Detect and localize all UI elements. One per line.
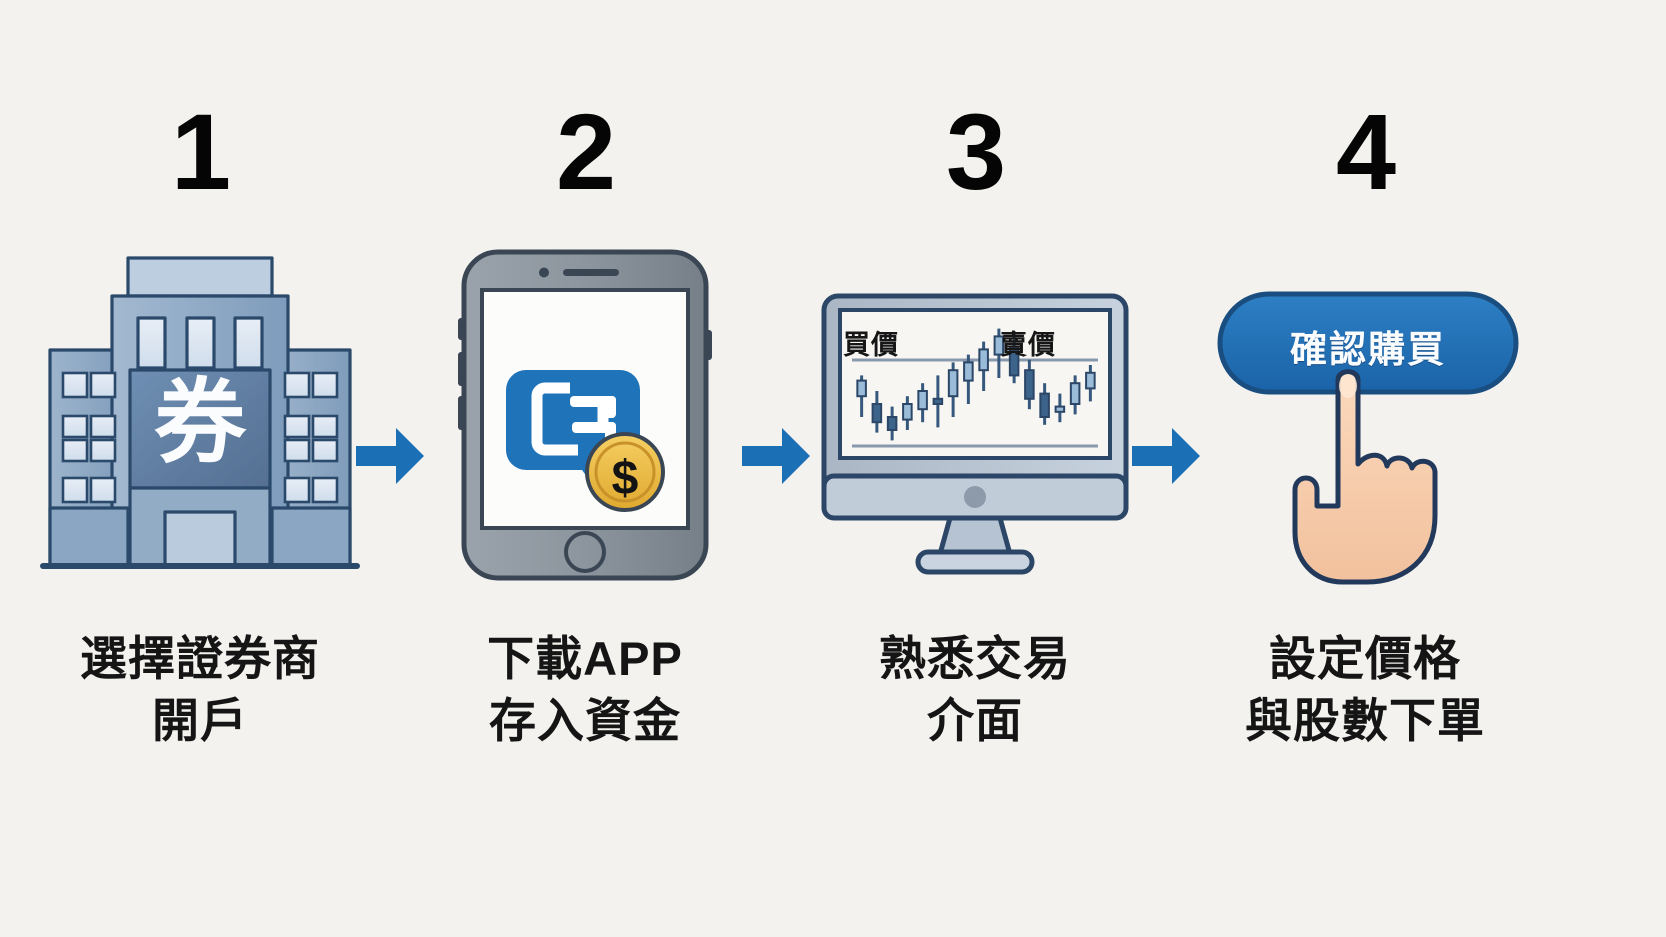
candlestick [888, 417, 897, 430]
step-1: 1 [35, 0, 365, 937]
caption-line: 下載APP [400, 628, 770, 690]
candlestick [949, 370, 958, 396]
step-number-1: 1 [35, 98, 365, 206]
step-3-artwork: 買價 賣價 [810, 240, 1140, 590]
confirm-purchase-button [1220, 294, 1516, 392]
arrow-step2-to-step3 [738, 418, 814, 494]
arrow-step3-to-step4 [1128, 418, 1204, 494]
step-1-artwork: 券 [35, 240, 365, 590]
caption-line: 開戶 [15, 690, 385, 752]
brokerage-building-icon: 券 [35, 240, 365, 590]
caption-line: 設定價格 [1180, 628, 1550, 690]
caption-line: 介面 [790, 690, 1160, 752]
step-3-caption: 熟悉交易 介面 [790, 628, 1160, 752]
candlestick [873, 404, 882, 422]
step-2-artwork: $ [420, 240, 750, 590]
caption-line: 選擇證券商 [15, 628, 385, 690]
arrow-step1-to-step2 [352, 418, 428, 494]
candlestick [1071, 383, 1080, 404]
candlestick [1056, 407, 1065, 412]
step-2: 2 [420, 0, 750, 937]
screen-label-bid: 買價 [843, 323, 899, 362]
candlestick [903, 404, 912, 420]
step-number-2: 2 [420, 98, 750, 206]
candlestick [1086, 373, 1095, 389]
candlestick [934, 399, 943, 404]
candlestick [1040, 394, 1049, 417]
candlestick [918, 391, 927, 409]
step-number-4: 4 [1200, 98, 1530, 206]
caption-line: 與股數下單 [1180, 690, 1550, 752]
building-sign-character: 券 [154, 369, 247, 476]
step-number-3: 3 [810, 98, 1140, 206]
coin-dollar-symbol: $ [612, 452, 639, 505]
candlestick [964, 362, 973, 380]
candlestick [1025, 370, 1034, 399]
desktop-monitor-chart-icon: 買價 賣價 [810, 290, 1140, 590]
step-2-caption: 下載APP 存入資金 [400, 628, 770, 752]
caption-line: 存入資金 [400, 690, 770, 752]
candlestick [979, 349, 988, 370]
infographic-canvas: 1 [0, 0, 1666, 937]
candlestick [857, 381, 866, 397]
step-4-caption: 設定價格 與股數下單 [1180, 628, 1550, 752]
confirm-purchase-button-icon: 確認購買 [1200, 280, 1540, 590]
smartphone-app-deposit-icon: $ [420, 230, 750, 590]
step-1-caption: 選擇證券商 開戶 [15, 628, 385, 752]
step-4-artwork: 確認購買 [1200, 240, 1530, 590]
caption-line: 熟悉交易 [790, 628, 1160, 690]
step-4: 4 [1200, 0, 1530, 937]
screen-label-ask: 賣價 [1000, 323, 1056, 362]
step-3: 3 [810, 0, 1140, 937]
